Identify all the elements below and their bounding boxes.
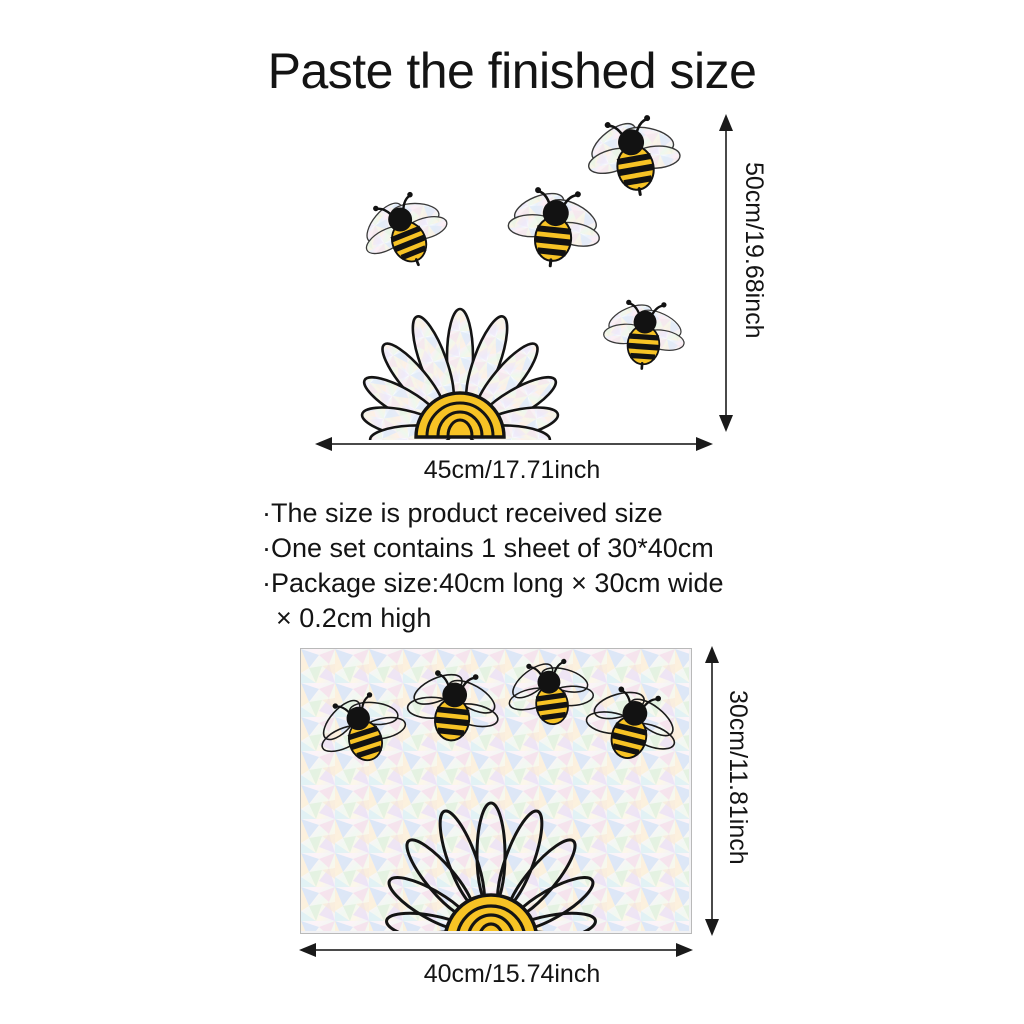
product-size-infographic: Paste the finished size — [0, 0, 1024, 1024]
daisy-flower — [358, 309, 562, 440]
sheet-height-label: 30cm/11.81inch — [723, 690, 752, 865]
preview-width-label: 45cm/17.71inch — [0, 456, 1024, 485]
sheet-width-dimension-line — [296, 938, 696, 962]
finished-size-preview — [300, 100, 720, 440]
sheet-width-label: 40cm/15.74inch — [0, 960, 1024, 989]
bee — [503, 183, 605, 271]
spec-list: ·The size is product received size ·One … — [262, 496, 822, 636]
page-title: Paste the finished size — [0, 42, 1024, 100]
preview-width-dimension-line — [312, 432, 716, 456]
spec-line: ·The size is product received size — [262, 496, 822, 531]
bee — [601, 297, 688, 372]
preview-height-label: 50cm/19.68inch — [739, 162, 768, 339]
spec-line: ·Package size:40cm long × 30cm wide — [262, 566, 822, 601]
spec-line: × 0.2cm high — [262, 601, 822, 636]
spec-line: ·One set contains 1 sheet of 30*40cm — [262, 531, 822, 566]
bee — [580, 109, 686, 203]
product-sheet — [300, 648, 692, 934]
bee — [351, 181, 458, 281]
